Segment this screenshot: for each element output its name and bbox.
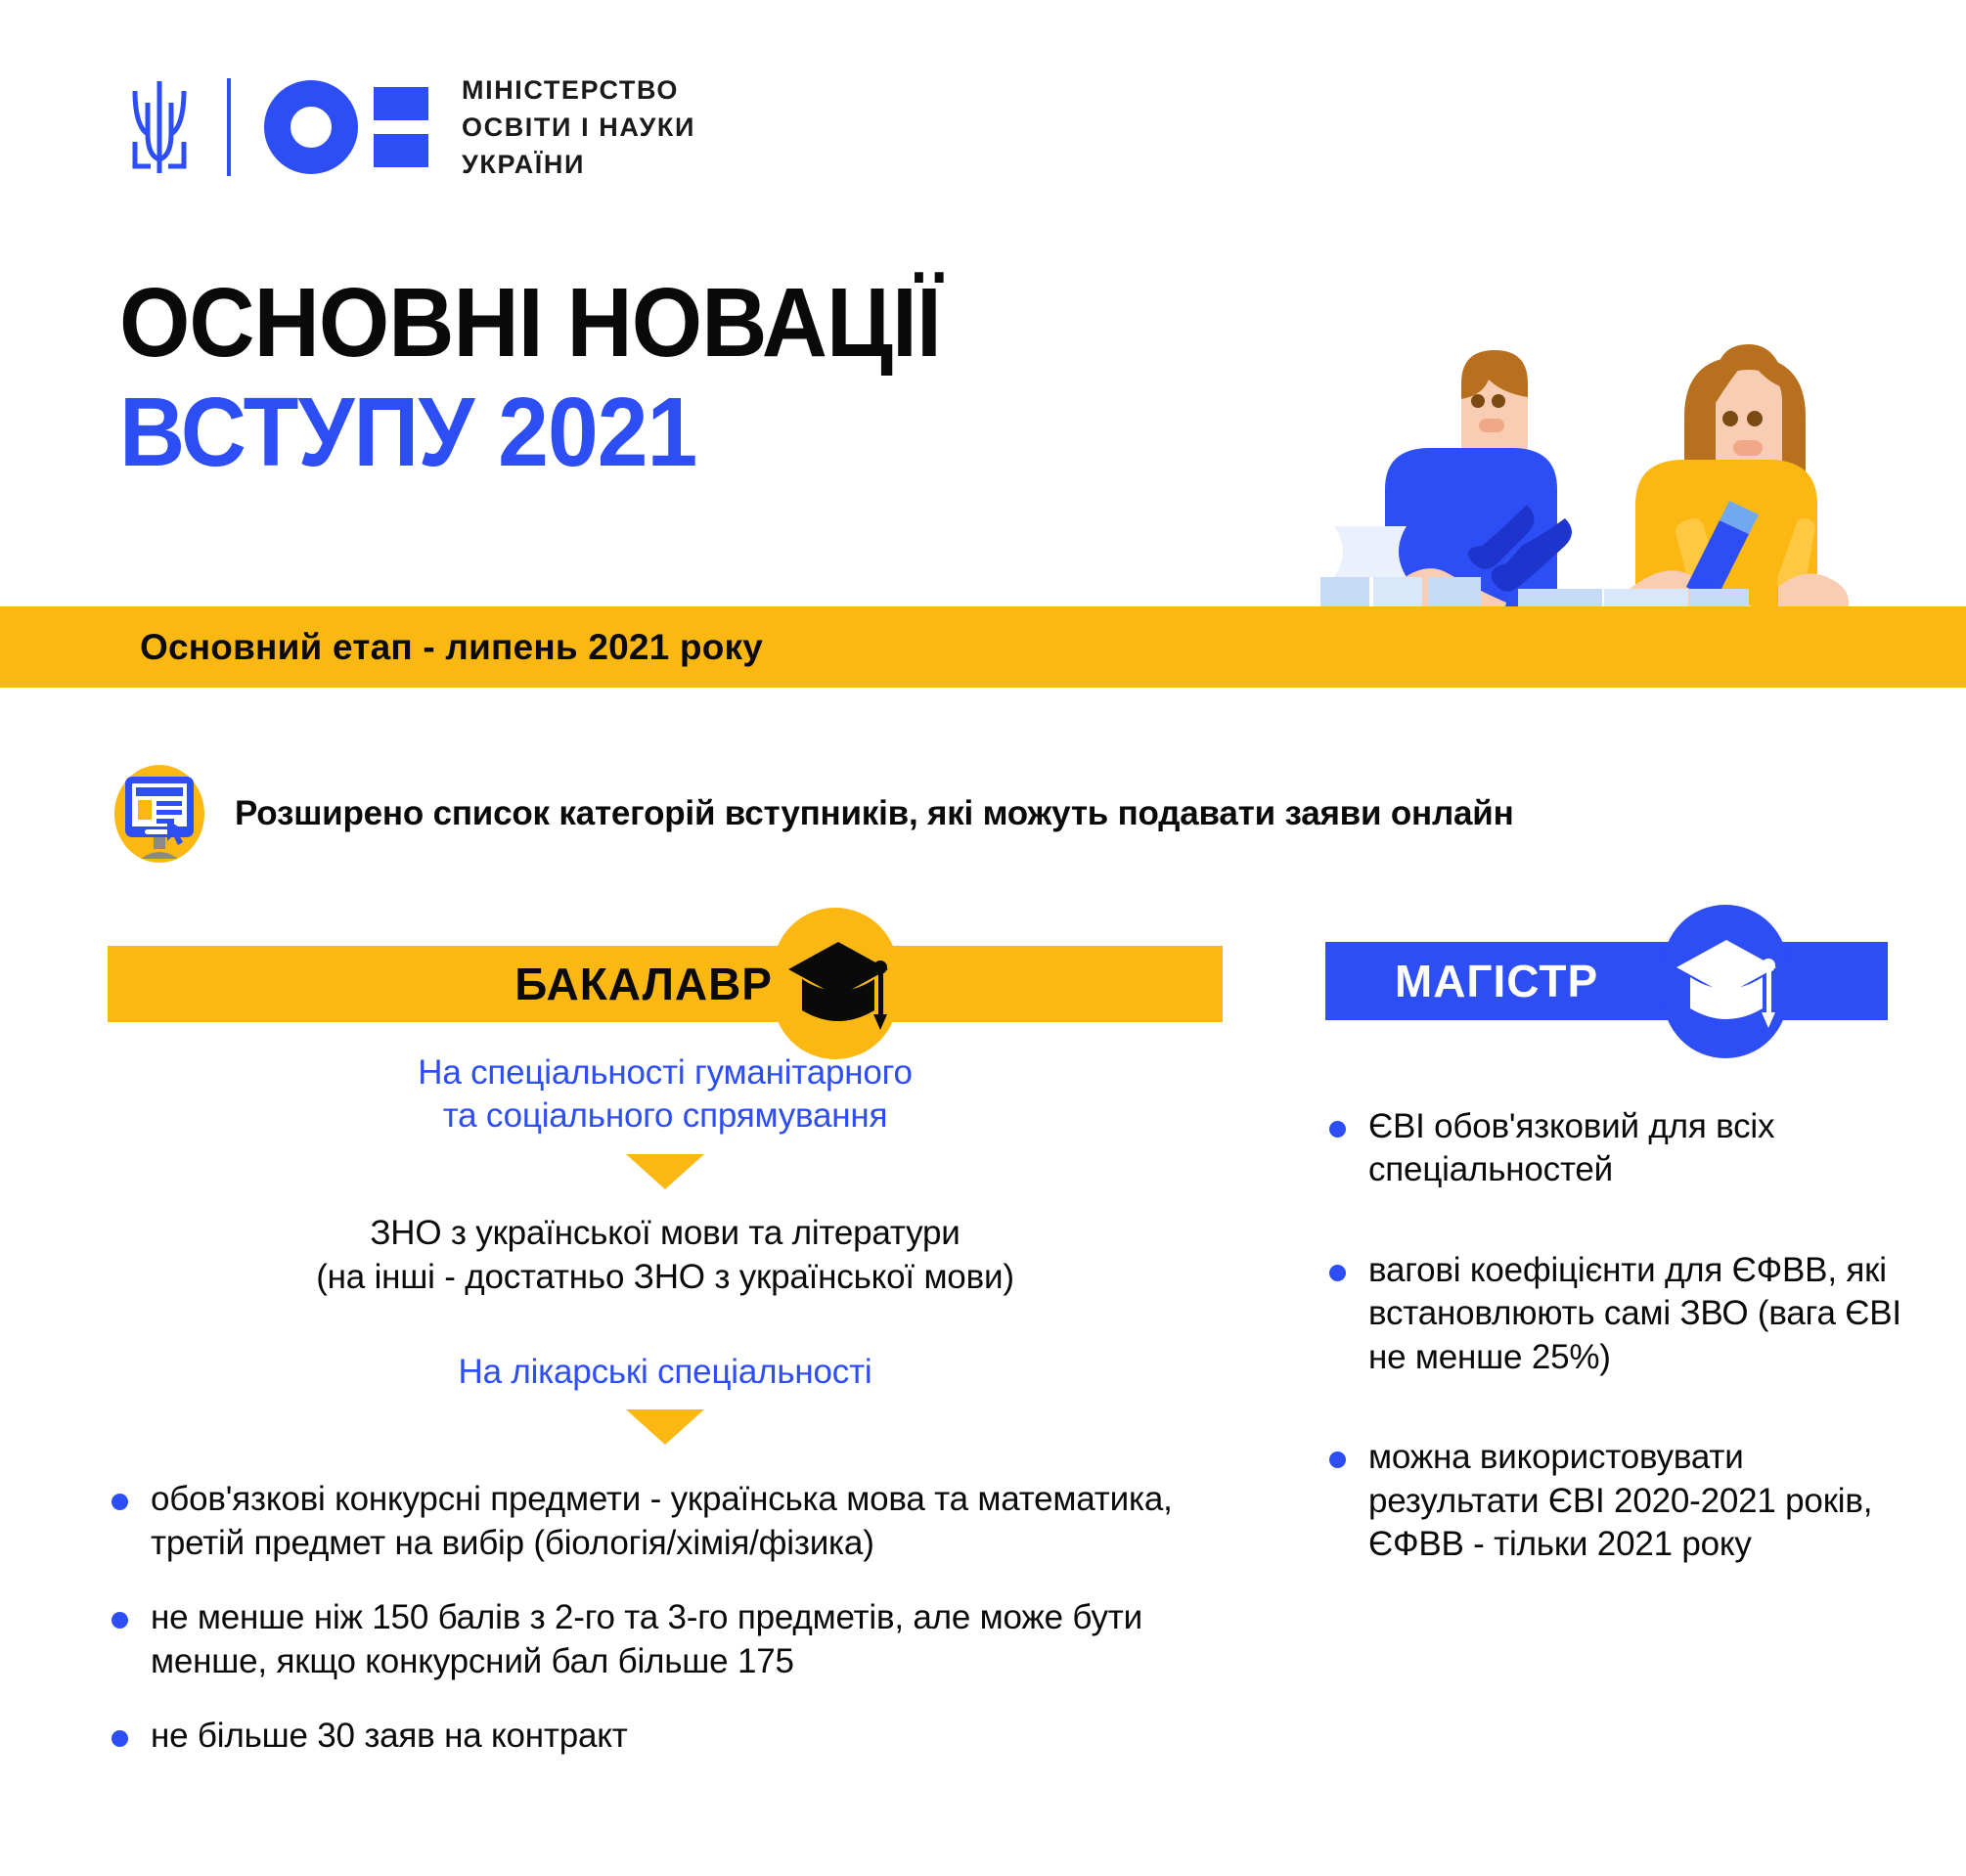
ministry-logo: МІНІСТЕРСТВО ОСВІТИ І НАУКИ УКРАЇНИ bbox=[125, 68, 695, 186]
list-item: не більше 30 заяв на контракт bbox=[108, 1715, 1223, 1758]
ministry-line-3: УКРАЇНИ bbox=[462, 146, 695, 183]
bachelor-section1-note-line1: ЗНО з української мови та літератури bbox=[108, 1211, 1223, 1256]
bachelor-section1-note-line2: (на інші - достатньо ЗНО з української м… bbox=[108, 1255, 1223, 1300]
master-label: МАГІСТР bbox=[1325, 942, 1668, 1020]
mon-emblem-icon bbox=[264, 78, 428, 176]
list-item: не менше ніж 150 балів з 2-го та 3-го пр… bbox=[108, 1596, 1223, 1683]
bullet-dot-icon bbox=[112, 1612, 128, 1629]
bachelor-section1-heading-line2: та соціального спрямування bbox=[108, 1094, 1223, 1138]
list-item-text: ЄВІ обов'язковий для всіх спеціальностей bbox=[1368, 1107, 1774, 1188]
bachelor-label: БАКАЛАВР bbox=[108, 946, 773, 1022]
list-item-text: не менше ніж 150 балів з 2-го та 3-го пр… bbox=[151, 1598, 1142, 1679]
bullet-dot-icon bbox=[112, 1730, 128, 1747]
bullet-dot-icon bbox=[112, 1494, 128, 1510]
bachelor-section2-heading-line1: На лікарські спеціальності bbox=[108, 1351, 1223, 1394]
ministry-line-1: МІНІСТЕРСТВО bbox=[462, 71, 695, 109]
bachelor-section2-heading: На лікарські спеціальності bbox=[108, 1351, 1223, 1394]
page-title: ОСНОВНІ НОВАЦІЇ ВСТУПУ 2021 bbox=[119, 272, 1003, 483]
list-item-text: можна використовувати результати ЄВІ 202… bbox=[1368, 1438, 1872, 1563]
ministry-name: МІНІСТЕРСТВО ОСВІТИ І НАУКИ УКРАЇНИ bbox=[462, 71, 695, 184]
bullet-dot-icon bbox=[1329, 1452, 1346, 1468]
bachelor-bullet-list: обов'язкові конкурсні предмети - українс… bbox=[108, 1478, 1223, 1758]
list-item: ЄВІ обов'язковий для всіх спеціальностей bbox=[1325, 1105, 1902, 1192]
online-applications-text: Розширено список категорій вступників, я… bbox=[235, 794, 1514, 833]
bullet-dot-icon bbox=[1329, 1265, 1346, 1281]
monitor-id-card-icon bbox=[102, 765, 217, 863]
graduation-cap-icon bbox=[781, 924, 896, 1040]
arrow-down-icon-2 bbox=[626, 1409, 704, 1445]
bachelor-column: На спеціальності гуманітарного та соціал… bbox=[108, 1051, 1223, 1790]
emblem-circle bbox=[264, 80, 358, 174]
ukraine-trident-icon bbox=[125, 73, 194, 181]
title-line-2: ВСТУПУ 2021 bbox=[119, 381, 941, 483]
bullet-dot-icon bbox=[1329, 1121, 1346, 1138]
emblem-bars bbox=[374, 87, 428, 167]
list-item-text: не більше 30 заяв на контракт bbox=[151, 1717, 628, 1755]
master-column: ЄВІ обов'язковий для всіх спеціальностей… bbox=[1325, 1105, 1902, 1624]
list-item: вагові коефіцієнти для ЄФВВ, які встанов… bbox=[1325, 1249, 1902, 1379]
master-bullet-list: ЄВІ обов'язковий для всіх спеціальностей… bbox=[1325, 1105, 1902, 1567]
stage-banner: Основний етап - липень 2021 року bbox=[0, 606, 1966, 688]
title-line-1: ОСНОВНІ НОВАЦІЇ bbox=[119, 272, 941, 374]
list-item: обов'язкові конкурсні предмети - українс… bbox=[108, 1478, 1223, 1565]
stage-banner-text: Основний етап - липень 2021 року bbox=[140, 627, 763, 668]
arrow-down-icon-1 bbox=[626, 1154, 704, 1189]
bachelor-section1-heading-line1: На спеціальності гуманітарного bbox=[108, 1051, 1223, 1094]
female-student-figure bbox=[1630, 344, 1849, 628]
list-item-text: вагові коефіцієнти для ЄФВВ, які встанов… bbox=[1368, 1251, 1901, 1376]
online-applications-row: Розширено список категорій вступників, я… bbox=[102, 765, 1892, 863]
bachelor-section1-note: ЗНО з української мови та літератури (на… bbox=[108, 1211, 1223, 1300]
list-item: можна використовувати результати ЄВІ 202… bbox=[1325, 1436, 1902, 1566]
logo-divider bbox=[227, 78, 231, 176]
ministry-line-2: ОСВІТИ І НАУКИ bbox=[462, 109, 695, 146]
list-item-text: обов'язкові конкурсні предмети - українс… bbox=[151, 1480, 1173, 1561]
graduation-cap-icon bbox=[1669, 922, 1784, 1038]
bachelor-section1-heading: На спеціальності гуманітарного та соціал… bbox=[108, 1051, 1223, 1139]
